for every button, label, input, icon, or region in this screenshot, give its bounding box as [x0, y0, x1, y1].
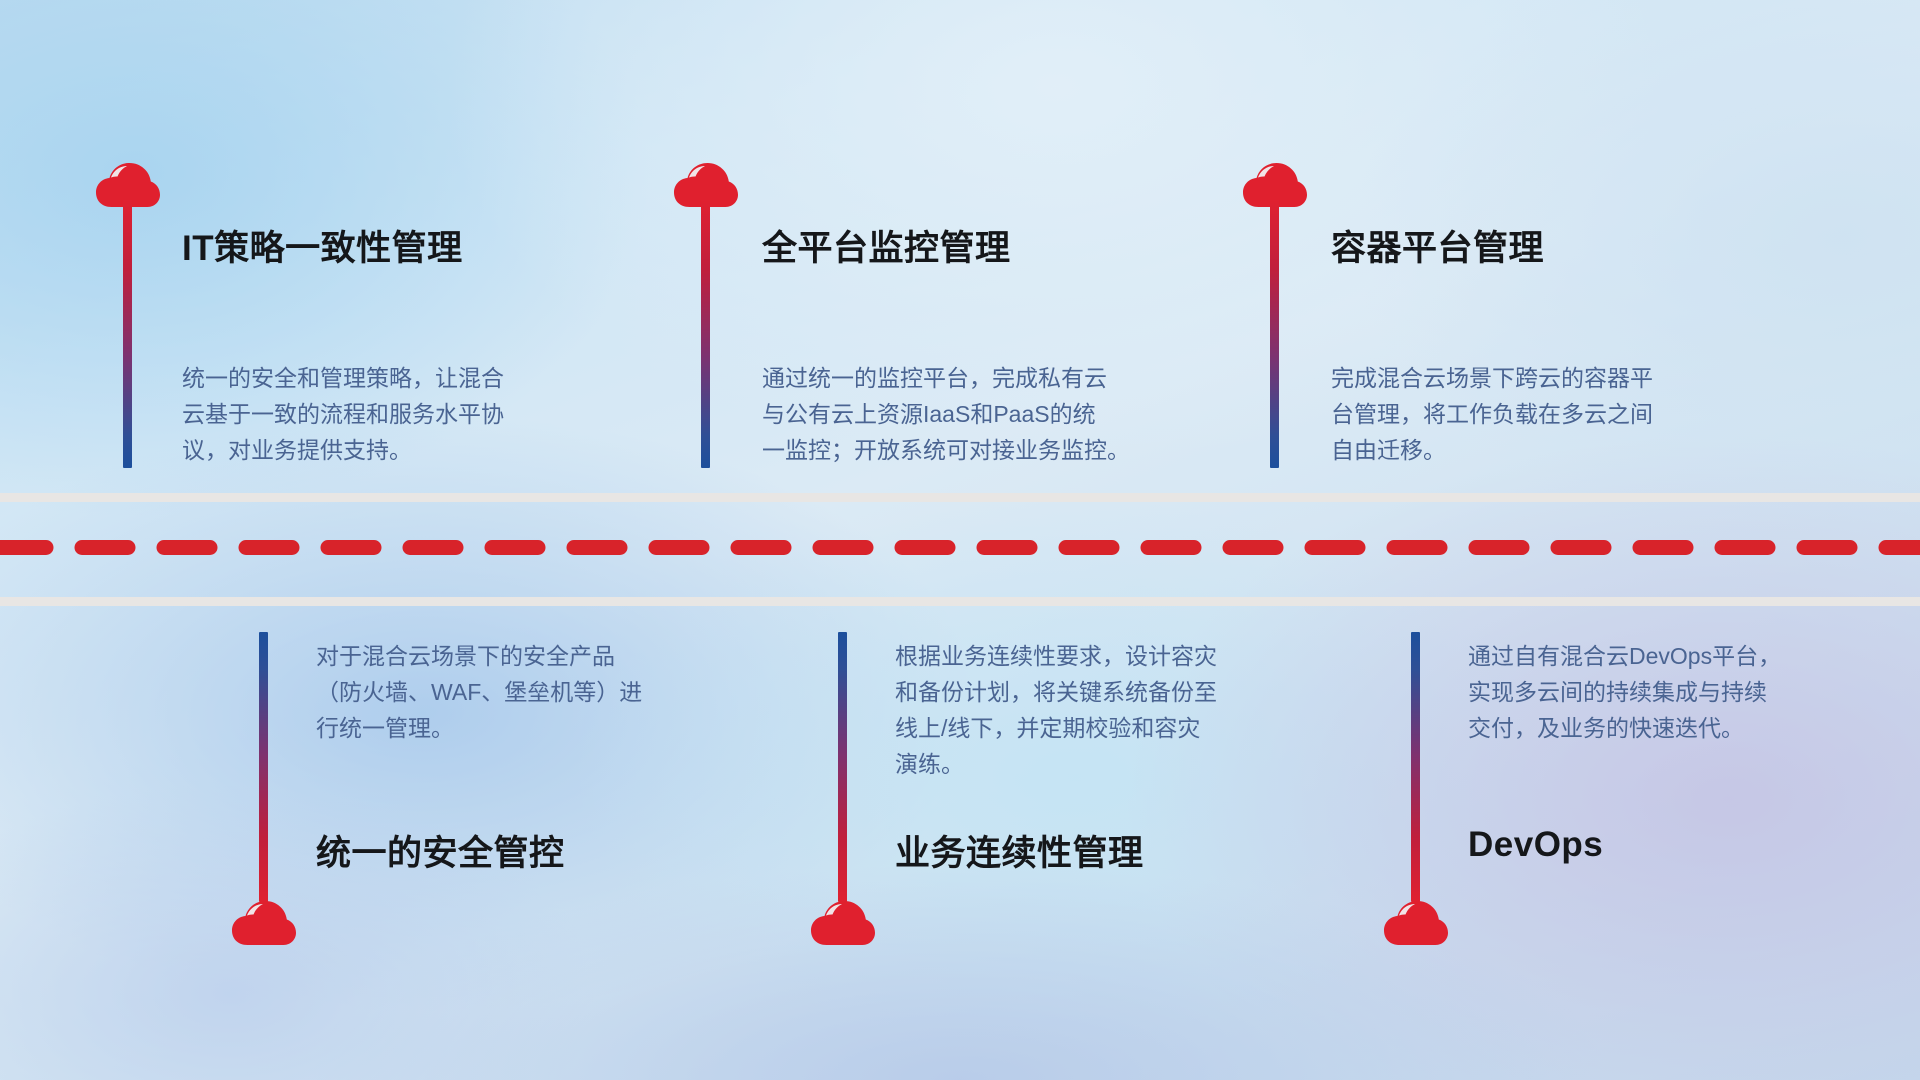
- bottom-item-title: 统一的安全管控: [316, 825, 565, 876]
- top-item-body: 通过统一的监控平台，完成私有云 与公有云上资源IaaS和PaaS的统 一监控；开…: [762, 360, 1212, 468]
- bottom-item-body: 对于混合云场景下的安全产品 （防火墙、WAF、堡垒机等）进 行统一管理。: [316, 638, 746, 746]
- connector-stem: [838, 632, 847, 902]
- infographic-canvas: IT策略一致性管理 统一的安全和管理策略，让混合 云基于一致的流程和服务水平协 …: [0, 0, 1920, 1080]
- connector-stem: [701, 200, 710, 468]
- bottom-item-body: 根据业务连续性要求，设计容灾 和备份计划，将关键系统备份至 线上/线下，并定期校…: [895, 638, 1325, 782]
- cloud-icon: [1383, 898, 1449, 948]
- top-item-title: 全平台监控管理: [762, 220, 1011, 271]
- cloud-icon: [231, 898, 297, 948]
- connector-stem: [1411, 632, 1420, 902]
- top-item-body: 完成混合云场景下跨云的容器平 台管理，将工作负载在多云之间 自由迁移。: [1331, 360, 1771, 468]
- divider-rule-bottom: [0, 597, 1920, 606]
- connector-stem: [259, 632, 268, 902]
- connector-stem: [1270, 200, 1279, 468]
- bottom-item-title: 业务连续性管理: [895, 825, 1144, 876]
- dashed-separator: [0, 540, 1920, 555]
- connector-stem: [123, 200, 132, 468]
- top-item-body: 统一的安全和管理策略，让混合 云基于一致的流程和服务水平协 议，对业务提供支持。: [182, 360, 612, 468]
- top-item-title: IT策略一致性管理: [182, 220, 463, 271]
- bottom-item-title: DevOps: [1468, 825, 1603, 865]
- cloud-icon: [810, 898, 876, 948]
- divider-rule-top: [0, 493, 1920, 502]
- top-item-title: 容器平台管理: [1331, 220, 1544, 271]
- bottom-item-body: 通过自有混合云DevOps平台， 实现多云间的持续集成与持续 交付，及业务的快速…: [1468, 638, 1898, 746]
